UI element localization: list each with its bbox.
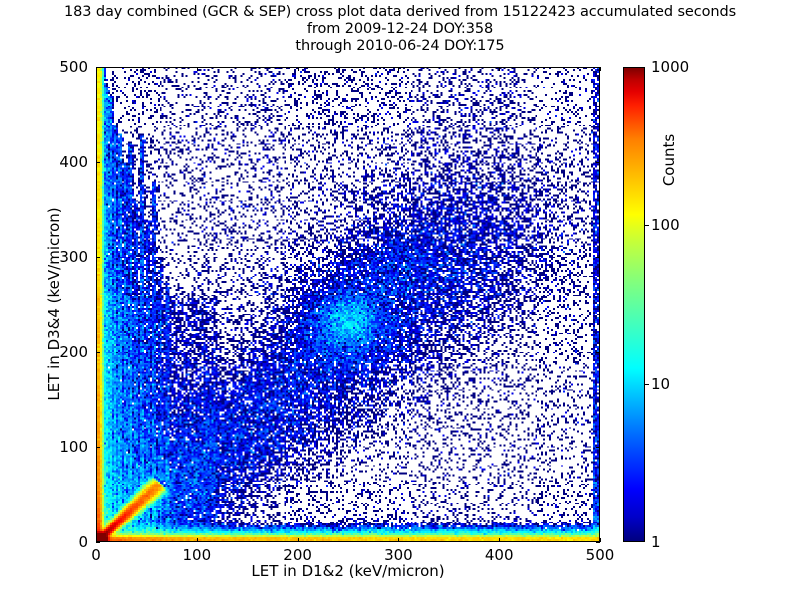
x-tick-mark <box>600 538 601 542</box>
y-tick-mark-right <box>596 447 600 448</box>
colorbar-title: Counts <box>660 80 678 240</box>
colorbar-container: 1101001000 <box>623 67 645 542</box>
plot-area <box>96 67 600 542</box>
colorbar-tick-mark <box>645 225 649 226</box>
x-tick-mark-top <box>298 67 299 71</box>
y-tick-mark <box>96 162 100 163</box>
y-tick-mark <box>96 447 100 448</box>
x-tick-mark-top <box>197 67 198 71</box>
density-heatmap <box>97 68 599 541</box>
y-tick-mark-right <box>596 162 600 163</box>
x-axis-label: LET in D1&2 (keV/micron) <box>96 562 600 580</box>
y-tick-mark-right <box>596 67 600 68</box>
chart-title: 183 day combined (GCR & SEP) cross plot … <box>0 4 800 55</box>
y-tick-label: 500 <box>4 58 88 76</box>
colorbar-tick-label: 1000 <box>651 58 689 76</box>
y-axis-label: LET in D3&4 (keV/micron) <box>45 154 63 454</box>
x-tick-mark <box>298 538 299 542</box>
title-line-3: through 2010-06-24 DOY:175 <box>0 38 800 55</box>
y-tick-mark <box>96 542 100 543</box>
colorbar-tick-label: 10 <box>651 375 670 393</box>
title-line-1: 183 day combined (GCR & SEP) cross plot … <box>0 4 800 21</box>
title-line-2: from 2009-12-24 DOY:358 <box>0 21 800 38</box>
figure-canvas: 183 day combined (GCR & SEP) cross plot … <box>0 0 800 600</box>
x-tick-mark-top <box>499 67 500 71</box>
colorbar-gradient <box>623 67 645 542</box>
x-tick-mark <box>499 538 500 542</box>
y-tick-mark-right <box>596 542 600 543</box>
y-tick-mark-right <box>596 257 600 258</box>
x-tick-mark <box>398 538 399 542</box>
colorbar-tick-label: 1 <box>651 533 661 551</box>
y-tick-mark <box>96 257 100 258</box>
x-tick-mark-top <box>398 67 399 71</box>
x-tick-mark-top <box>600 67 601 71</box>
colorbar-tick-mark <box>645 384 649 385</box>
y-tick-mark-right <box>596 352 600 353</box>
y-tick-mark <box>96 352 100 353</box>
y-tick-label: 0 <box>4 533 88 551</box>
x-tick-mark <box>197 538 198 542</box>
y-tick-mark <box>96 67 100 68</box>
